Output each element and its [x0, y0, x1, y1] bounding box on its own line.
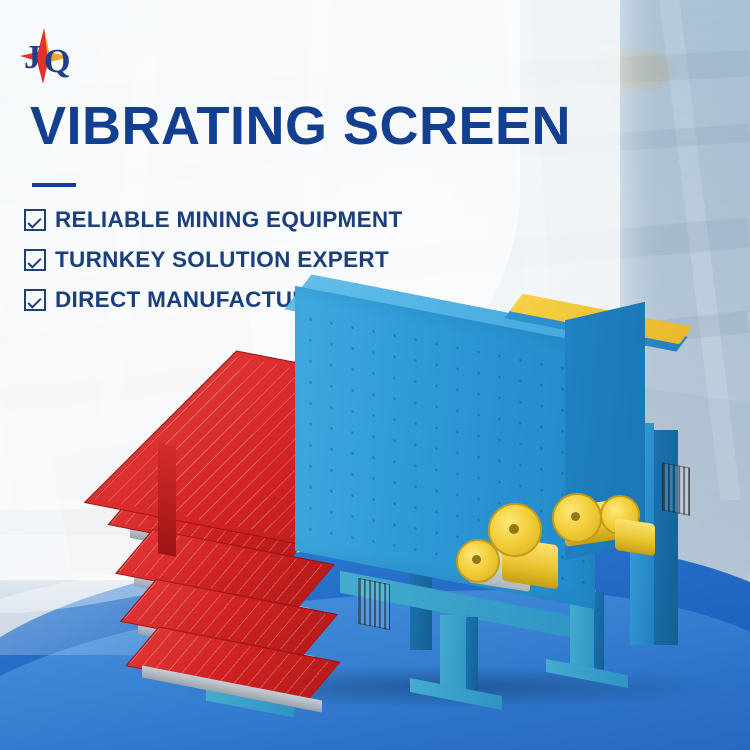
- vibrating-screen-machine: [110, 295, 750, 725]
- list-item: TURNKEY SOLUTION EXPERT: [24, 240, 544, 280]
- checkbox-checked-icon: [24, 289, 46, 311]
- base-column: [466, 617, 478, 695]
- list-item-label: RELIABLE MINING EQUIPMENT: [55, 207, 403, 233]
- checkbox-checked-icon: [24, 209, 46, 231]
- svg-text:Q: Q: [44, 43, 70, 80]
- motor-guard-mesh: [358, 578, 390, 630]
- jq-star-logo-icon: J Q: [18, 22, 84, 88]
- checkbox-checked-icon: [24, 249, 46, 271]
- pulley-hub: [571, 512, 580, 521]
- pulley-hub: [472, 555, 481, 564]
- motor-guard-mesh: [662, 462, 690, 515]
- drive-motor-body: [615, 518, 655, 556]
- base-column: [594, 592, 604, 676]
- pulley-hub: [509, 524, 519, 534]
- page-title: VIBRATING SCREEN: [30, 98, 571, 155]
- title-divider: [32, 183, 76, 187]
- list-item: RELIABLE MINING EQUIPMENT: [24, 200, 544, 240]
- list-item-label: TURNKEY SOLUTION EXPERT: [55, 247, 389, 273]
- svg-text:J: J: [24, 39, 41, 76]
- deck-side-plate: [158, 443, 176, 556]
- product-banner: J Q VIBRATING SCREEN RELIABLE MINING EQU…: [0, 0, 750, 750]
